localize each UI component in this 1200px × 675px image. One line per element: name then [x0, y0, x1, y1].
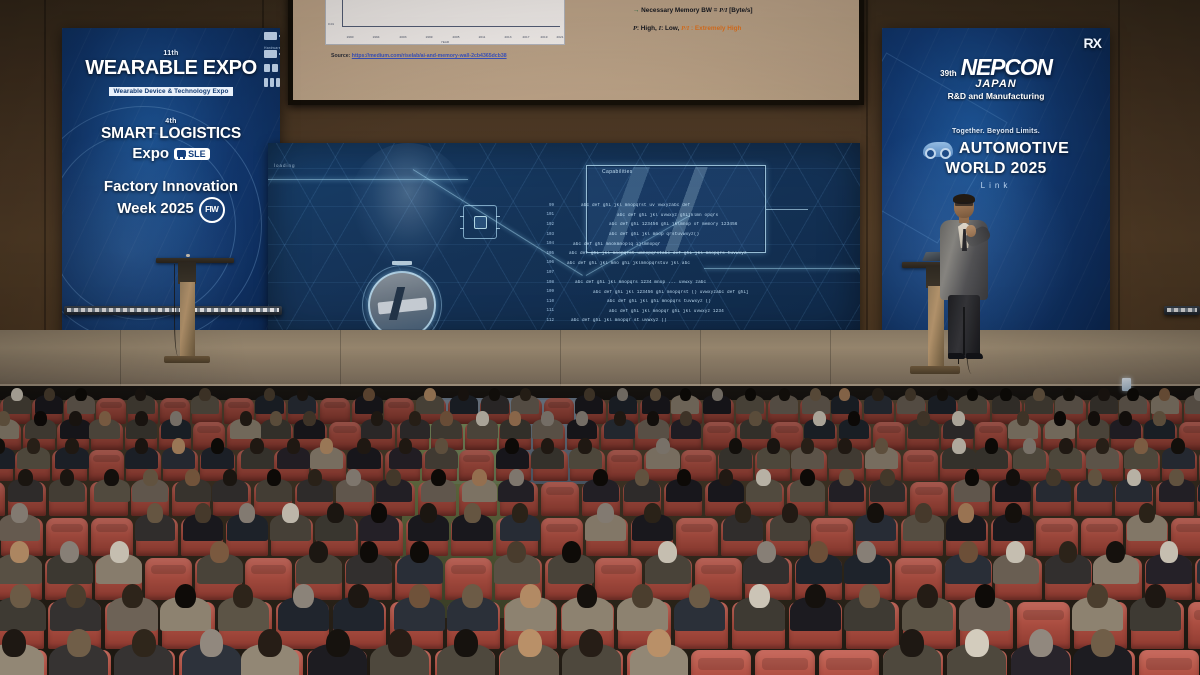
stage-light-bar	[64, 306, 282, 315]
audience-member-head	[327, 503, 344, 523]
audience-member-head	[689, 584, 710, 608]
audience-member-head	[872, 388, 883, 401]
audience-member-head	[650, 388, 661, 401]
ghost-figure-graphic	[348, 143, 468, 273]
audience-member-head	[578, 438, 592, 454]
audience-member-head	[647, 629, 671, 657]
audience-member-head	[326, 629, 350, 657]
audience-member-head	[1145, 584, 1166, 608]
audience-member-head	[1087, 584, 1108, 608]
glasses-icon	[955, 202, 973, 206]
wearable-expo-subtitle: Wearable Device & Technology Expo	[109, 87, 234, 96]
sle-badge: SLE	[174, 148, 210, 160]
audience-member-head	[250, 438, 264, 454]
projection-screen: 1 0.01 1990 1994 2003 1999 2005 2011 201…	[288, 0, 864, 105]
code-line: 111abc def ghi jkl mnopqr ghi jkl uvwxyz…	[542, 307, 842, 317]
audience-member-head	[1088, 469, 1103, 486]
sle-badge-label: SLE	[188, 149, 206, 159]
smart-logistics-expo-word: Expo	[132, 145, 169, 162]
audience-member-head	[958, 503, 975, 523]
audience-member-head	[1005, 503, 1022, 523]
audience-member-head	[409, 411, 421, 426]
audience-member-head	[476, 411, 488, 426]
code-line: 105abc def ghi jkl mnopqrst umnopqrstabc…	[542, 249, 842, 259]
audience-member-head	[509, 411, 521, 426]
audience-member-head	[757, 541, 776, 563]
hardware-icon-strip: Hardware	[264, 32, 280, 142]
audience-member-head	[11, 388, 22, 401]
audience-member-head	[952, 438, 966, 454]
chart-x-tick: 2011	[479, 35, 486, 39]
code-line: 112abc def ghi jkl mnopqr st uvwxyz ()	[542, 316, 842, 326]
audience-member-head	[143, 469, 158, 486]
chart-x-tick: 1990	[347, 35, 354, 39]
audience-member-head	[1119, 411, 1131, 426]
audience-member-head	[952, 411, 964, 426]
audience-member-head	[1054, 411, 1066, 426]
audience-member-head	[282, 503, 299, 523]
nepcon-subtitle: R&D and Manufacturing	[882, 91, 1110, 101]
audience-seat	[320, 398, 350, 424]
slide-chart: 1 0.01 1990 1994 2003 1999 2005 2011 201…	[325, 0, 565, 45]
audience-member-head	[346, 469, 361, 486]
audience-member-head	[617, 388, 628, 401]
nepcon-logo: NEPCON	[961, 54, 1052, 81]
audience-member-head	[767, 438, 781, 454]
audience-member-head	[579, 629, 603, 657]
audience-member-head	[597, 503, 614, 523]
audience-member-head	[10, 541, 29, 563]
mic-head-icon	[186, 254, 190, 257]
audience-member-head	[320, 438, 334, 454]
audience-member-head	[813, 411, 825, 426]
audience-member-head	[11, 503, 28, 523]
audience-member-head	[308, 469, 323, 486]
audience-member-head	[309, 541, 328, 563]
expo-banner-left: 11th WEARABLE EXPO Wearable Device & Tec…	[62, 28, 280, 346]
audience-member-head	[233, 584, 254, 608]
audience-member-head	[135, 388, 146, 401]
audience-member-head	[293, 584, 314, 608]
code-line: 106abc def ghi jkl mno ghi jklmnopqrstuv…	[542, 259, 842, 269]
audience-member-head	[680, 388, 691, 401]
hardware-icon	[264, 78, 280, 87]
code-line: 110abc def ghi jkl ghi mnopqrs tuvwxyz (…	[542, 297, 842, 307]
audience-member-head	[147, 503, 164, 523]
bullet-2-unit: [Byte/s]	[727, 7, 752, 14]
chart-y-tick: 0.01	[328, 22, 334, 26]
audience-member-head	[677, 469, 692, 486]
audience-member-head	[431, 469, 446, 486]
audience-member-head	[1106, 541, 1125, 563]
nepcon-region: JAPAN	[882, 78, 1110, 90]
audience-member-head	[507, 541, 526, 563]
speaker-shoe	[966, 353, 983, 359]
audience-member-head	[779, 388, 790, 401]
smart-logistics-block: 4th SMART LOGISTICS Expo SLE	[62, 118, 280, 162]
audience-member-head	[200, 629, 224, 657]
automotive-world-block: Together. Beyond Limits. AUTOMOTIVE WORL…	[882, 128, 1110, 190]
audience-member-head	[1098, 388, 1109, 401]
wearable-expo-title: WEARABLE EXPO	[62, 57, 280, 80]
audience-member-head	[363, 388, 374, 401]
chart-x-tick: 2021	[557, 35, 564, 39]
projection-surface: 1 0.01 1990 1994 2003 1999 2005 2011 201…	[293, 0, 859, 100]
chip-icon	[463, 205, 497, 239]
audience-member-head	[489, 388, 500, 401]
audience-member-head	[967, 388, 978, 401]
audience-member-head	[1091, 629, 1115, 657]
audience-seat	[1188, 602, 1200, 649]
audience-member-head	[541, 438, 555, 454]
audience-member-head	[69, 411, 81, 426]
wearable-expo-ordinal: 11th	[62, 50, 280, 57]
audience-member-head	[34, 411, 46, 426]
audience-member-head	[917, 411, 929, 426]
hardware-icon	[264, 64, 280, 72]
audience-member-head	[386, 469, 401, 486]
audience-member-head	[809, 541, 828, 563]
audience-member-head	[1160, 541, 1179, 563]
code-line: 102abc def ghi 123456 ghi jklmnop of mem…	[542, 220, 842, 230]
nepcon-block: 39th NEPCON JAPAN R&D and Manufacturing	[882, 54, 1110, 101]
audience-member-head	[185, 469, 200, 486]
truck-icon	[177, 150, 186, 157]
audience-seat	[691, 650, 751, 675]
audience-member-head	[240, 411, 252, 426]
audience-member-head	[959, 541, 978, 563]
glow-line	[268, 179, 468, 180]
chart-x-tick: 2017	[523, 35, 530, 39]
audience-member-head	[975, 584, 996, 608]
audience-member-head	[635, 469, 650, 486]
chart-y-axis	[342, 0, 343, 27]
audience-member-head	[1194, 388, 1200, 401]
stage-light-bar	[1164, 306, 1200, 315]
audience-member-head	[867, 503, 884, 523]
audience-member-head	[420, 503, 437, 523]
conclusion-p-val: : High,	[637, 25, 659, 32]
audience-member-head	[211, 438, 225, 454]
conclusion-i-val: : Low,	[661, 25, 681, 32]
audience-member-head	[172, 438, 186, 454]
audience-member-head	[1023, 438, 1037, 454]
audience-member-head	[541, 411, 553, 426]
audience-member-head	[859, 584, 880, 608]
podium-base	[164, 356, 210, 363]
audience-member-head	[805, 584, 826, 608]
audience-member-head	[1169, 469, 1184, 486]
slide-source-prefix: Source:	[331, 53, 350, 59]
speaker-hand	[966, 225, 976, 237]
audience-member-head	[135, 411, 147, 426]
speaker-shoe	[948, 353, 965, 359]
audience-member-head	[435, 438, 449, 454]
audience-member-head	[464, 503, 481, 523]
audience-member-head	[749, 411, 761, 426]
audience-member-head	[518, 629, 542, 657]
audience-member-head	[577, 584, 598, 608]
chart-x-tick: 2005	[453, 35, 460, 39]
audience-member-head	[509, 469, 524, 486]
chart-x-tick: 2003	[400, 35, 407, 39]
audience-member-head	[122, 584, 143, 608]
audience-member-head	[520, 584, 541, 608]
fiw-logo: FIW	[199, 197, 225, 223]
audience-member-head	[1033, 388, 1044, 401]
nepcon-ordinal: 39th	[940, 69, 956, 78]
audience-member-head	[104, 469, 119, 486]
audience-member-head	[458, 388, 469, 401]
audience-member-head	[1006, 541, 1025, 563]
conclusion-ratio-var: P/I	[681, 25, 689, 32]
conclusion-ratio-val: : Extremely High	[689, 25, 741, 32]
code-line: 108abc def ghi jkl mnopqrs 1234 mnop ...…	[542, 278, 842, 288]
audience-member-head	[839, 469, 854, 486]
audience-member-head	[303, 411, 315, 426]
audience-member-head	[357, 438, 371, 454]
audience-member-head	[1029, 629, 1053, 657]
audience-member-head	[399, 438, 413, 454]
audience-member-head	[60, 469, 75, 486]
audience-seat	[1139, 650, 1199, 675]
conference-hall-photo: 1 0.01 1990 1994 2003 1999 2005 2011 201…	[0, 0, 1200, 675]
led-panel-caption: Capabilities	[602, 169, 633, 175]
code-line: 99abc def ghi jkl mnopqrst uv vwxyzabc d…	[542, 201, 842, 211]
audience-member-head	[360, 541, 379, 563]
audience-member-head	[647, 411, 659, 426]
hardware-icon	[264, 32, 280, 40]
audience-member-head	[801, 438, 815, 454]
audience-member-head	[66, 584, 87, 608]
audience-member-head	[1139, 503, 1156, 523]
audience-member-head	[1088, 411, 1100, 426]
audience-member-head	[562, 541, 581, 563]
smart-logistics-expo-row: Expo SLE	[62, 145, 280, 162]
audience-member-head	[67, 629, 91, 657]
code-line: 104abc def ghi mnokmnoplq ijlmnopqr	[542, 239, 842, 249]
audience-member-head	[520, 388, 531, 401]
audience-seat	[755, 650, 815, 675]
audience-member-head	[410, 541, 429, 563]
audience-member-head	[857, 541, 876, 563]
audience-member-head	[44, 388, 55, 401]
audience-member-head	[60, 541, 79, 563]
audience-member-head	[199, 388, 210, 401]
smart-logistics-ordinal: 4th	[62, 118, 280, 125]
audience-member-head	[965, 469, 980, 486]
audience-member-head	[371, 503, 388, 523]
audience-member-head	[270, 411, 282, 426]
audience-seat	[329, 422, 361, 450]
audience-member-head	[838, 438, 852, 454]
factory-innovation-year: Week 2025	[117, 200, 193, 219]
audience-member-head	[1171, 438, 1185, 454]
audience-member-head	[839, 388, 850, 401]
audience-member-head	[267, 469, 282, 486]
audience-member-head	[644, 503, 661, 523]
stage-led-wall: loading Capabilities 99abc def ghi jkl m…	[268, 143, 860, 339]
audience-member-head	[18, 469, 33, 486]
audience-member-head	[614, 411, 626, 426]
podium-cable	[174, 264, 184, 356]
audience-member-head	[454, 629, 478, 657]
audience-member-head	[1134, 438, 1148, 454]
audience-member-head	[1159, 388, 1170, 401]
hardware-icon	[264, 50, 280, 58]
audience-member-head	[99, 411, 111, 426]
audience-member-head	[917, 584, 938, 608]
audience-member-head	[2, 629, 26, 657]
audience-member-head	[729, 438, 743, 454]
audience-member-head	[195, 503, 212, 523]
audience-seat	[541, 482, 579, 516]
audience-member-head	[756, 469, 771, 486]
slide-content: 1 0.01 1990 1994 2003 1999 2005 2011 201…	[293, 0, 859, 100]
automotive-title: AUTOMOTIVE	[959, 140, 1069, 158]
rx-logo: RX	[1084, 35, 1101, 51]
audience-member-head	[1046, 469, 1061, 486]
automotive-tagline: Together. Beyond Limits.	[882, 128, 1110, 135]
audience-member-head	[584, 388, 595, 401]
chart-x-tick: 2019	[541, 35, 548, 39]
audience-member-head	[965, 629, 989, 657]
audience-member-head	[1127, 469, 1142, 486]
audience-member-head	[848, 411, 860, 426]
audience-member-head	[1127, 388, 1138, 401]
audience-member-head	[1006, 469, 1021, 486]
chart-x-axis	[342, 26, 560, 27]
audience-member-head	[239, 503, 256, 523]
audience-member-head	[593, 469, 608, 486]
code-line: 101abc def ghi jkl uvwxyz ghijklmn opqrs	[542, 211, 842, 221]
audience-member-head	[1000, 388, 1011, 401]
smart-logistics-title: SMART LOGISTICS	[62, 125, 280, 143]
audience-member-head	[75, 388, 86, 401]
audience-member-head	[258, 629, 282, 657]
podium-base	[910, 366, 960, 374]
chart-x-tick: 1999	[426, 35, 433, 39]
audience-member-head	[900, 629, 924, 657]
code-line: 103abc def ghi jkl mnop qrstuvwxyz()	[542, 230, 842, 240]
audience-member-head	[110, 541, 129, 563]
bullet-2-text: Necessary Memory BW =	[641, 7, 719, 14]
audience	[0, 396, 1200, 675]
audience-member-head	[880, 469, 895, 486]
audience-member-head	[512, 503, 529, 523]
audience-member-head	[1059, 438, 1073, 454]
audience-member-head	[505, 438, 519, 454]
audience-member-head	[287, 438, 301, 454]
chart-x-tick: 2013	[505, 35, 512, 39]
audience-member-head	[0, 411, 10, 426]
car-icon	[923, 142, 953, 157]
audience-member-head	[472, 469, 487, 486]
audience-member-head	[800, 469, 815, 486]
nepcon-logo-row: 39th NEPCON	[882, 54, 1110, 81]
chart-x-tick: 1994	[373, 35, 380, 39]
audience-member-head	[223, 469, 238, 486]
audience-member-head	[348, 584, 369, 608]
speaker-leg-split	[963, 307, 965, 355]
factory-innovation-row: Week 2025 FIW	[62, 197, 280, 223]
audience-member-head	[27, 438, 41, 454]
expo-banner-right: RX 39th NEPCON JAPAN R&D and Manufacturi…	[882, 28, 1110, 346]
automotive-title2: WORLD 2025	[882, 160, 1110, 178]
audience-member-head	[735, 503, 752, 523]
audience-member-head	[264, 388, 275, 401]
audience-member-head	[712, 388, 723, 401]
automotive-link-label: Link	[882, 181, 1110, 190]
audience-member-head	[656, 438, 670, 454]
chip-core	[474, 216, 487, 229]
audience-member-head	[297, 388, 308, 401]
radar-tab	[392, 261, 412, 265]
audience-member-head	[1063, 388, 1074, 401]
slide-source: Source: https://medium.com/riselab/ai-an…	[331, 53, 507, 59]
audience-member-head	[719, 469, 734, 486]
chart-x-label: YEAR	[441, 40, 449, 44]
audience-seat	[819, 650, 879, 675]
audience-member-head	[388, 629, 412, 657]
audience-member-head	[409, 584, 430, 608]
audience-member-head	[1017, 411, 1029, 426]
audience-member-head	[658, 541, 677, 563]
audience-member-head	[782, 503, 799, 523]
audience-member-head	[424, 388, 435, 401]
audience-member-head	[576, 411, 588, 426]
audience-member-head	[749, 584, 770, 608]
audience-member-head	[915, 503, 932, 523]
audience-seat	[903, 450, 938, 481]
led-status-text: loading	[274, 163, 296, 168]
audience-member-head	[875, 438, 889, 454]
audience-member-head	[680, 411, 692, 426]
code-line: 109abc def ghi jkl 123456 ghi mnopqrst (…	[542, 287, 842, 297]
chart-plot: 1 0.01 1990 1994 2003 1999 2005 2011 201…	[326, 0, 564, 44]
audience-member-head	[440, 411, 452, 426]
audience-member-head	[905, 388, 916, 401]
wearable-expo-block: 11th WEARABLE EXPO Wearable Device & Tec…	[62, 50, 280, 98]
audience-member-head	[1096, 438, 1110, 454]
audience-member-head	[1059, 541, 1078, 563]
automotive-title-row: AUTOMOTIVE	[882, 140, 1110, 158]
audience-member-head	[65, 438, 79, 454]
keynote-speaker	[936, 195, 992, 360]
audience-member-head	[10, 584, 31, 608]
audience-member-head	[175, 584, 196, 608]
audience-member-head	[937, 388, 948, 401]
audience-member-head	[1153, 411, 1165, 426]
audience-member-head	[810, 388, 821, 401]
audience-member-head	[371, 411, 383, 426]
slide-bullet-block: •Compute/Data I [FLOP/Byte] → Necessary …	[633, 0, 858, 39]
audience-seat	[676, 518, 718, 556]
audience-member-head	[745, 388, 756, 401]
slide-conclusion: P: High, I: Low, P/I : Extremely High	[633, 25, 858, 32]
code-line: 107	[542, 268, 842, 278]
audience-member-head	[132, 629, 156, 657]
factory-innovation-block: Factory Innovation Week 2025 FIW	[62, 178, 280, 223]
led-code-block: 99abc def ghi jkl mnopqrst uv vwxyzabc d…	[542, 201, 842, 326]
audience-member-head	[210, 541, 229, 563]
slide-bullet-2: → Necessary Memory BW = P/I [Byte/s]	[633, 7, 858, 14]
slide-source-link[interactable]: https://medium.com/riselab/ai-and-memory…	[352, 53, 507, 59]
arrow-icon: →	[633, 7, 639, 14]
audience-seat	[0, 482, 5, 516]
audience-member-head	[632, 584, 653, 608]
factory-innovation-title: Factory Innovation	[62, 178, 280, 197]
